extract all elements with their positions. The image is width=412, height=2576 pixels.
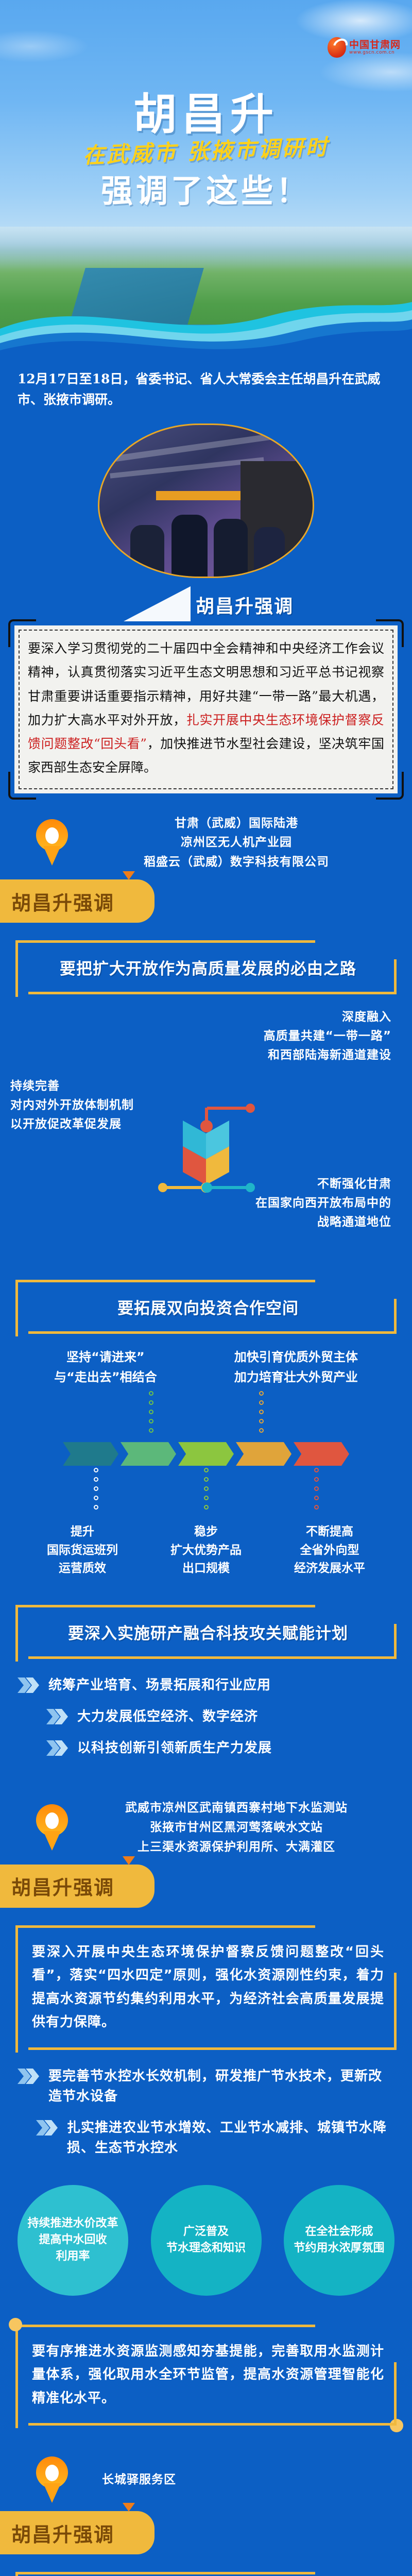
site-logo: 中国甘肃网 www.gscn.com.cn bbox=[328, 37, 401, 58]
location-name: 张掖市甘州区黑河莺落峡水文站 bbox=[81, 1818, 391, 1838]
section-2-location-block: 甘肃（武威）国际陆港 凉州区无人机产业园 稻盛云（武威）数字科技有限公司 bbox=[0, 793, 412, 878]
photo-person bbox=[214, 519, 248, 577]
chevron-step-4 bbox=[236, 1442, 291, 1466]
chevron-step-2 bbox=[121, 1442, 176, 1466]
dot-column-lightgreen bbox=[204, 1468, 209, 1510]
chevron-step-1 bbox=[63, 1442, 118, 1466]
tab-notch-icon bbox=[123, 2503, 135, 2512]
hero-banner: 中国甘肃网 www.gscn.com.cn 胡昌升 在武威市 张掖市调研时 强调… bbox=[0, 0, 412, 355]
wave-divider bbox=[0, 279, 412, 355]
section-4-para-1-frame: 坚持底线思维，加强对高速公路、国省干道、急弯陡坡、临水临崖、长坡窄路等重要路段检… bbox=[15, 2572, 397, 2576]
location-pin-icon bbox=[36, 1804, 68, 1852]
photo-detail bbox=[115, 430, 300, 462]
dotted-connector-top bbox=[0, 1387, 412, 1433]
page-subtitle-emphasis: 强调了这些！ bbox=[0, 165, 412, 211]
section-2-pair-labels: 坚持“请进来”与“走出去”相结合 加快引育优质外贸主体加力培育壮大外贸产业 bbox=[0, 1334, 412, 1387]
lede-paragraph: 12月17日至18日，省委书记、省人大常委会主任胡昌升在武威市、张掖市调研。 bbox=[0, 355, 412, 410]
location-name: 长城驿服务区 bbox=[102, 2470, 391, 2490]
chevron-step-3 bbox=[178, 1442, 234, 1466]
section-3-circle-group: 持续推进水价改革提高中水回收利用率 广泛普及节水理念和知识 在全社会形成节约用水… bbox=[0, 2170, 412, 2296]
logo-website-url: www.gscn.com.cn bbox=[349, 50, 394, 55]
photo-person bbox=[130, 525, 164, 577]
corner-bracket bbox=[376, 772, 404, 800]
double-chevron-icon bbox=[36, 2120, 60, 2136]
section-4-location-names: 长城驿服务区 bbox=[81, 2470, 391, 2490]
corner-bracket bbox=[376, 619, 404, 647]
double-chevron-icon bbox=[46, 1709, 70, 1724]
section-2-bullets: 统筹产业培育、场景拓展和行业应用 大力发展低空经济、数字经济 以科技创新引领新质… bbox=[0, 1659, 412, 1758]
location-name: 武威市凉州区武南镇西寨村地下水监测站 bbox=[81, 1799, 391, 1818]
bullet-text: 以科技创新引领新质生产力发展 bbox=[77, 1738, 272, 1758]
section-2-header: 胡昌升强调 bbox=[11, 887, 114, 916]
circle-item-1: 持续推进水价改革提高中水回收利用率 bbox=[18, 2185, 128, 2296]
photo-person bbox=[171, 515, 208, 577]
pair-label-1: 坚持“请进来”与“走出去”相结合 bbox=[54, 1347, 157, 1387]
bullet-item: 要完善节水控水长效机制，研发推广节水技术，更新改造节水设备 bbox=[18, 2066, 394, 2107]
tab-notch-icon bbox=[123, 871, 135, 880]
double-chevron-icon bbox=[46, 1740, 70, 1756]
dot-column-green bbox=[149, 1391, 153, 1433]
section-2-heading-1-frame: 要把扩大开放作为高质量发展的必由之路 bbox=[15, 940, 397, 994]
dotted-connector-bottom bbox=[0, 1466, 412, 1510]
section-3-location-block: 武威市凉州区武南镇西寨村地下水监测站 张掖市甘州区黑河莺落峡水文站 上三渠水资源… bbox=[0, 1770, 412, 1862]
network-nodes-icon bbox=[129, 1092, 283, 1211]
pair-label-2: 加快引育优质外贸主体加力培育壮大外贸产业 bbox=[234, 1347, 358, 1387]
pointer-arrow-shape bbox=[124, 586, 191, 621]
section-1-header-row: 胡昌升强调 bbox=[0, 583, 412, 623]
photo-person bbox=[254, 527, 285, 577]
section-3-location-names: 武威市凉州区武南镇西寨村地下水监测站 张掖市甘州区黑河莺落峡水文站 上三渠水资源… bbox=[81, 1799, 391, 1857]
open-policy-text-2: 持续完善对内对外开放体制机制以开放促改革促发展 bbox=[10, 1077, 134, 1133]
location-name: 甘肃（武威）国际陆港 bbox=[81, 814, 391, 834]
double-chevron-icon bbox=[18, 1677, 41, 1693]
section-2-heading-2-frame: 要拓展双向投资合作空间 bbox=[15, 1280, 397, 1334]
section-1-header: 胡昌升强调 bbox=[196, 591, 294, 618]
flame-logo-icon bbox=[328, 37, 346, 58]
section-3-header-tab: 胡昌升强调 bbox=[0, 1865, 154, 1908]
section-3-paragraph-2: 要有序推进水资源监测感知夯基提能，完善取用水监测计量体系，强化取用水全环节监管，… bbox=[32, 2340, 384, 2411]
section-2-heading-3-frame: 要深入实施研产融合科技攻关赋能计划 bbox=[15, 1605, 397, 1659]
double-chevron-icon bbox=[18, 2069, 41, 2084]
open-policy-text-1: 深度融入高质量共建“一带一路”和西部陆海新通道建设 bbox=[264, 1008, 391, 1064]
section-1-quote-box: 要深入学习贯彻党的二十届四中全会精神和中央经济工作会议精神，认真贯彻落实习近平生… bbox=[14, 625, 398, 793]
section-2-open-policy-block: 深度融入高质量共建“一带一路”和西部陆海新通道建设 持续完善对内对外开放体制机制… bbox=[0, 994, 412, 1262]
bullet-item: 大力发展低空经济、数字经济 bbox=[18, 1707, 394, 1727]
bullet-text: 统筹产业培育、场景拓展和行业应用 bbox=[48, 1675, 271, 1696]
bullet-item: 扎实推进农业节水增效、工业节水减排、城镇节水降损、生态节水控水 bbox=[18, 2118, 394, 2158]
logo-chinese-name: 中国甘肃网 bbox=[349, 40, 401, 50]
section-4-header: 胡昌升强调 bbox=[11, 2519, 114, 2547]
flow-label-1: 提升国际货运班列运营质效 bbox=[47, 1523, 118, 1578]
section-2-header-tab: 胡昌升强调 bbox=[0, 879, 154, 923]
location-name: 稻盛云（武威）数字科技有限公司 bbox=[81, 853, 391, 872]
section-3-header: 胡昌升强调 bbox=[11, 1872, 114, 1900]
section-4-location-block: 长城驿服务区 bbox=[0, 2426, 412, 2509]
bullet-item: 以科技创新引领新质生产力发展 bbox=[18, 1738, 394, 1758]
dot-column-orange bbox=[259, 1391, 264, 1433]
section-2-flow-labels: 提升国际货运班列运营质效 稳步扩大优势产品出口规模 不断提高全省外向型经济发展水… bbox=[0, 1510, 412, 1578]
circle-item-2: 广泛普及节水理念和知识 bbox=[151, 2185, 262, 2296]
location-pin-icon bbox=[36, 2456, 68, 2504]
infographic-page: 中国甘肃网 www.gscn.com.cn 胡昌升 在武威市 张掖市调研时 强调… bbox=[0, 0, 412, 2576]
dot-column-white bbox=[94, 1468, 98, 1510]
connector-dot bbox=[9, 2318, 22, 2331]
section-3-para-2-frame: 要有序推进水资源监测感知夯基提能，完善取用水监测计量体系，强化取用水全环节监管，… bbox=[15, 2325, 397, 2426]
flow-label-3: 不断提高全省外向型经济发展水平 bbox=[294, 1523, 365, 1578]
section-3-bullets: 要完善节水控水长效机制，研发推广节水技术，更新改造节水设备 扎实推进农业节水增效… bbox=[0, 2050, 412, 2158]
dot-column-red bbox=[314, 1468, 319, 1510]
section-2-chevron-flow bbox=[0, 1433, 412, 1466]
section-4-header-tab: 胡昌升强调 bbox=[0, 2511, 154, 2554]
bullet-text: 扎实推进农业节水增效、工业节水减排、城镇节水降损、生态节水控水 bbox=[67, 2118, 394, 2158]
corner-bracket bbox=[8, 772, 36, 800]
section-3-paragraph-1: 要深入开展中央生态环境保护督察反馈问题整改“回头看”，落实“四水四定”原则，强化… bbox=[32, 1941, 384, 2035]
tab-notch-icon bbox=[123, 1856, 135, 1865]
inspection-photo-1 bbox=[98, 423, 314, 578]
section-2-heading-2: 要拓展双向投资合作空间 bbox=[32, 1295, 384, 1318]
section-3-para-1-frame: 要深入开展中央生态环境保护督察反馈问题整改“回头看”，落实“四水四定”原则，强化… bbox=[15, 1925, 397, 2050]
corner-bracket bbox=[8, 619, 36, 647]
location-name: 上三渠水资源保护利用所、大满灌区 bbox=[81, 1838, 391, 1857]
location-name: 凉州区无人机产业园 bbox=[81, 833, 391, 853]
section-2-heading-3: 要深入实施研产融合科技攻关赋能计划 bbox=[32, 1620, 384, 1643]
section-2-heading-1: 要把扩大开放作为高质量发展的必由之路 bbox=[32, 956, 384, 979]
section-2-location-names: 甘肃（武威）国际陆港 凉州区无人机产业园 稻盛云（武威）数字科技有限公司 bbox=[81, 814, 391, 873]
flow-label-2: 稳步扩大优势产品出口规模 bbox=[170, 1523, 242, 1578]
bullet-item: 统筹产业培育、场景拓展和行业应用 bbox=[18, 1675, 394, 1696]
location-pin-icon bbox=[36, 819, 68, 867]
circle-item-3: 在全社会形成节约用水浓厚氛围 bbox=[284, 2185, 394, 2296]
bullet-text: 大力发展低空经济、数字经济 bbox=[77, 1707, 258, 1727]
bullet-text: 要完善节水控水长效机制，研发推广节水技术，更新改造节水设备 bbox=[48, 2066, 394, 2107]
chevron-step-5 bbox=[294, 1442, 349, 1466]
